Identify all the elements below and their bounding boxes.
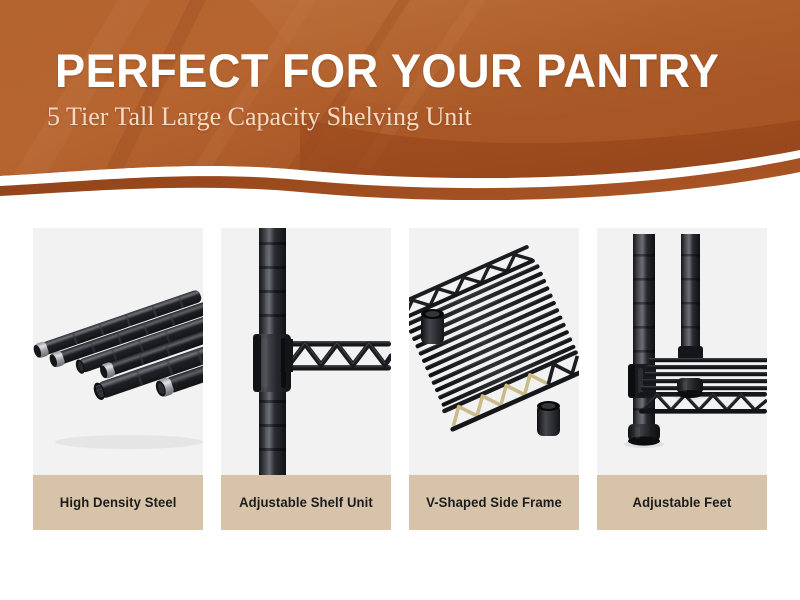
corner-collar-right (537, 401, 560, 436)
steel-poles-illustration (33, 228, 203, 475)
panel-caption-label: V-Shaped Side Frame (426, 495, 562, 510)
feature-panel-adjustable-shelf-unit[interactable]: Adjustable Shelf Unit (221, 228, 391, 530)
page-subtitle: 5 Tier Tall Large Capacity Shelving Unit (47, 102, 472, 132)
panel-caption-label: Adjustable Feet (633, 495, 732, 510)
panel-caption-label: High Density Steel (60, 495, 177, 510)
panel-caption: High Density Steel (33, 475, 203, 530)
adjustable-feet-illustration (597, 228, 767, 475)
panel-caption-label: Adjustable Shelf Unit (239, 495, 373, 510)
feature-panel-v-shaped-side-frame[interactable]: V-Shaped Side Frame (409, 228, 579, 530)
panel-caption: V-Shaped Side Frame (409, 475, 579, 530)
v-shaped-side-frame-illustration (409, 228, 579, 475)
banner-text-block: PERFECT FOR YOUR PANTRY 5 Tier Tall Larg… (0, 0, 800, 200)
steel-poles-photo (33, 228, 203, 475)
panel-caption: Adjustable Feet (597, 475, 767, 530)
header-banner: PERFECT FOR YOUR PANTRY 5 Tier Tall Larg… (0, 0, 800, 200)
feature-panel-adjustable-feet[interactable]: Adjustable Feet (597, 228, 767, 530)
v-shaped-side-frame-photo (409, 228, 579, 475)
adjustable-feet-photo (597, 228, 767, 475)
feature-panel-high-density-steel[interactable]: High Density Steel (33, 228, 203, 530)
panel-caption: Adjustable Shelf Unit (221, 475, 391, 530)
feature-panel-row: High Density Steel (0, 228, 800, 530)
corner-collar-left (421, 309, 444, 344)
adjustable-shelf-illustration (221, 228, 391, 475)
adjustable-shelf-collar-photo (221, 228, 391, 475)
page-title: PERFECT FOR YOUR PANTRY (55, 46, 720, 96)
